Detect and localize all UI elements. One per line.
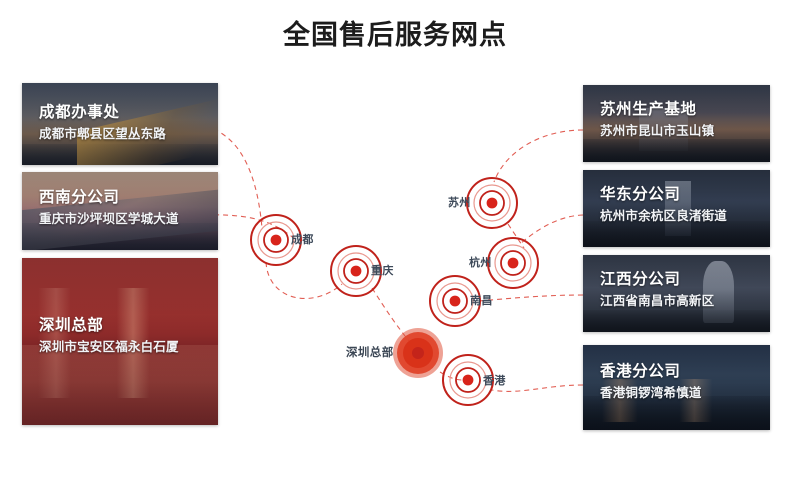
marker-label-shenzhen-hq: 深圳总部 [346, 347, 394, 360]
card-east-china-branch[interactable]: 华东分公司 杭州市余杭区良渚街道 [583, 170, 770, 247]
marker-label-chongqing: 重庆 [371, 265, 394, 278]
card-title: 成都办事处 [39, 103, 208, 123]
poster-canvas: 全国售后服务网点 [0, 0, 790, 492]
card-shenzhen-hq[interactable]: 深圳总部 深圳市宝安区福永白石厦 [22, 258, 218, 425]
connector-hangzhou [520, 215, 583, 244]
marker-label-suzhou: 苏州 [448, 197, 471, 210]
card-address: 杭州市余杭区良渚街道 [600, 207, 760, 225]
marker-label-hongkong: 香港 [483, 375, 506, 388]
marker-shenzhen-hq[interactable] [393, 328, 443, 378]
card-address: 苏州市昆山市玉山镇 [600, 122, 760, 140]
marker-hangzhou[interactable] [488, 238, 538, 288]
marker-label-hangzhou: 杭州 [469, 257, 492, 270]
marker-suzhou[interactable] [467, 178, 517, 228]
card-address: 深圳市宝安区福永白石厦 [39, 338, 208, 356]
card-title: 江西分公司 [600, 270, 760, 290]
connector-suzhou [494, 130, 583, 182]
connector-shenzhen-hongkong [440, 372, 462, 380]
connector-suzhou-hangzhou [508, 224, 524, 248]
card-title: 香港分公司 [600, 362, 760, 382]
marker-label-chengdu: 成都 [291, 234, 314, 247]
card-suzhou-plant[interactable]: 苏州生产基地 苏州市昆山市玉山镇 [583, 85, 770, 162]
card-address: 重庆市沙坪坝区学城大道 [39, 210, 208, 228]
card-title: 深圳总部 [39, 316, 208, 336]
connector-nanchang [478, 295, 583, 301]
card-chengdu-office[interactable]: 成都办事处 成都市郫县区望丛东路 [22, 83, 218, 165]
connector-chengdu-chongqing [266, 262, 342, 298]
page-title: 全国售后服务网点 [0, 17, 790, 53]
card-title: 苏州生产基地 [600, 100, 760, 120]
card-address: 江西省南昌市高新区 [600, 292, 760, 310]
card-title: 西南分公司 [39, 188, 208, 208]
card-address: 香港铜锣湾希慎道 [600, 384, 760, 402]
marker-label-nanchang: 南昌 [470, 295, 493, 308]
card-hongkong-branch[interactable]: 香港分公司 香港铜锣湾希慎道 [583, 345, 770, 430]
card-jiangxi-branch[interactable]: 江西分公司 江西省南昌市高新区 [583, 255, 770, 332]
connector-chongqing-shenzhen [372, 288, 410, 342]
card-title: 华东分公司 [600, 185, 760, 205]
card-southwest-branch[interactable]: 西南分公司 重庆市沙坪坝区学城大道 [22, 172, 218, 250]
card-address: 成都市郫县区望丛东路 [39, 125, 208, 143]
